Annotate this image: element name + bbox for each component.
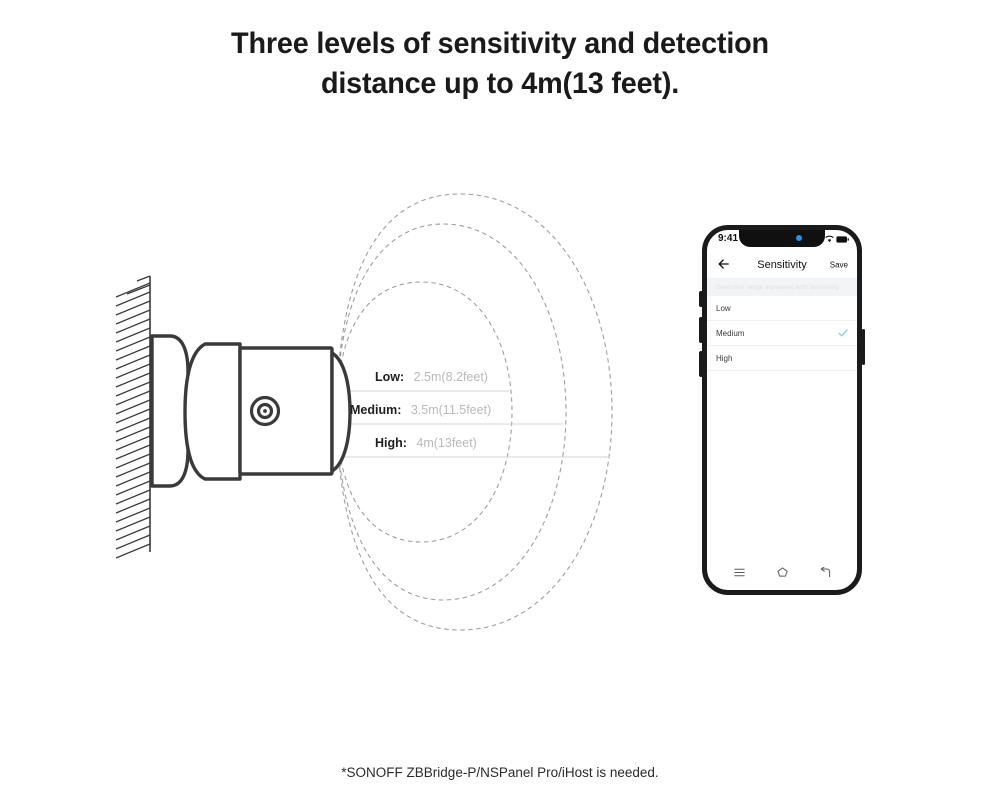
- camera-indicator-dot: [796, 235, 802, 241]
- phone-mockup: 9:41: [702, 225, 862, 595]
- camera-front-dome: [332, 353, 350, 471]
- footer-note: *SONOFF ZBBridge-P/NSPanel Pro/iHost is …: [0, 765, 1000, 780]
- option-row-low[interactable]: Low: [707, 296, 857, 321]
- back-icon[interactable]: [820, 564, 831, 582]
- option-row-medium[interactable]: Medium: [707, 321, 857, 346]
- wall-hatching: [116, 276, 150, 558]
- status-icons: [811, 235, 849, 243]
- camera-lens: [252, 398, 279, 425]
- option-label-low: Low: [707, 304, 731, 313]
- option-label-medium: Medium: [707, 329, 744, 338]
- legend-value-high: 4m(13feet): [416, 436, 476, 450]
- camera-mount-plate: [152, 336, 188, 486]
- camera-neck: [185, 344, 240, 479]
- home-icon[interactable]: [777, 564, 788, 582]
- legend-row-low: Low: 2.5m(8.2feet): [375, 368, 488, 390]
- phone-screen: 9:41: [702, 225, 862, 595]
- option-row-high[interactable]: High: [707, 346, 857, 371]
- app-header: Sensitivity Save: [707, 252, 857, 278]
- recents-icon[interactable]: [734, 564, 745, 582]
- legend-label-medium: Medium:: [350, 403, 401, 417]
- legend-value-medium: 3.5m(11.5feet): [411, 403, 491, 417]
- hint-strip: Detection range increases with sensitivi…: [707, 278, 857, 296]
- legend-label-high: High:: [375, 436, 407, 450]
- option-label-high: High: [707, 354, 732, 363]
- android-nav-bar: [707, 562, 857, 584]
- status-time: 9:41: [718, 233, 738, 244]
- battery-icon: [836, 236, 849, 243]
- hint-text: Detection range increases with sensitivi…: [707, 284, 839, 291]
- check-icon: [838, 324, 848, 342]
- back-arrow-icon[interactable]: [718, 256, 729, 274]
- phone-power-button[interactable]: [862, 329, 866, 365]
- wifi-icon: [825, 235, 834, 243]
- legend-row-high: High: 4m(13feet): [375, 434, 477, 456]
- status-bar: 9:41: [707, 230, 857, 252]
- cellular-signal-icon: [811, 235, 822, 243]
- sensitivity-option-list: Low Medium High: [707, 296, 857, 371]
- save-button[interactable]: Save: [830, 261, 848, 270]
- legend-row-medium: Medium: 3.5m(11.5feet): [350, 401, 491, 423]
- legend-label-low: Low:: [375, 370, 404, 384]
- legend-value-low: 2.5m(8.2feet): [414, 370, 488, 384]
